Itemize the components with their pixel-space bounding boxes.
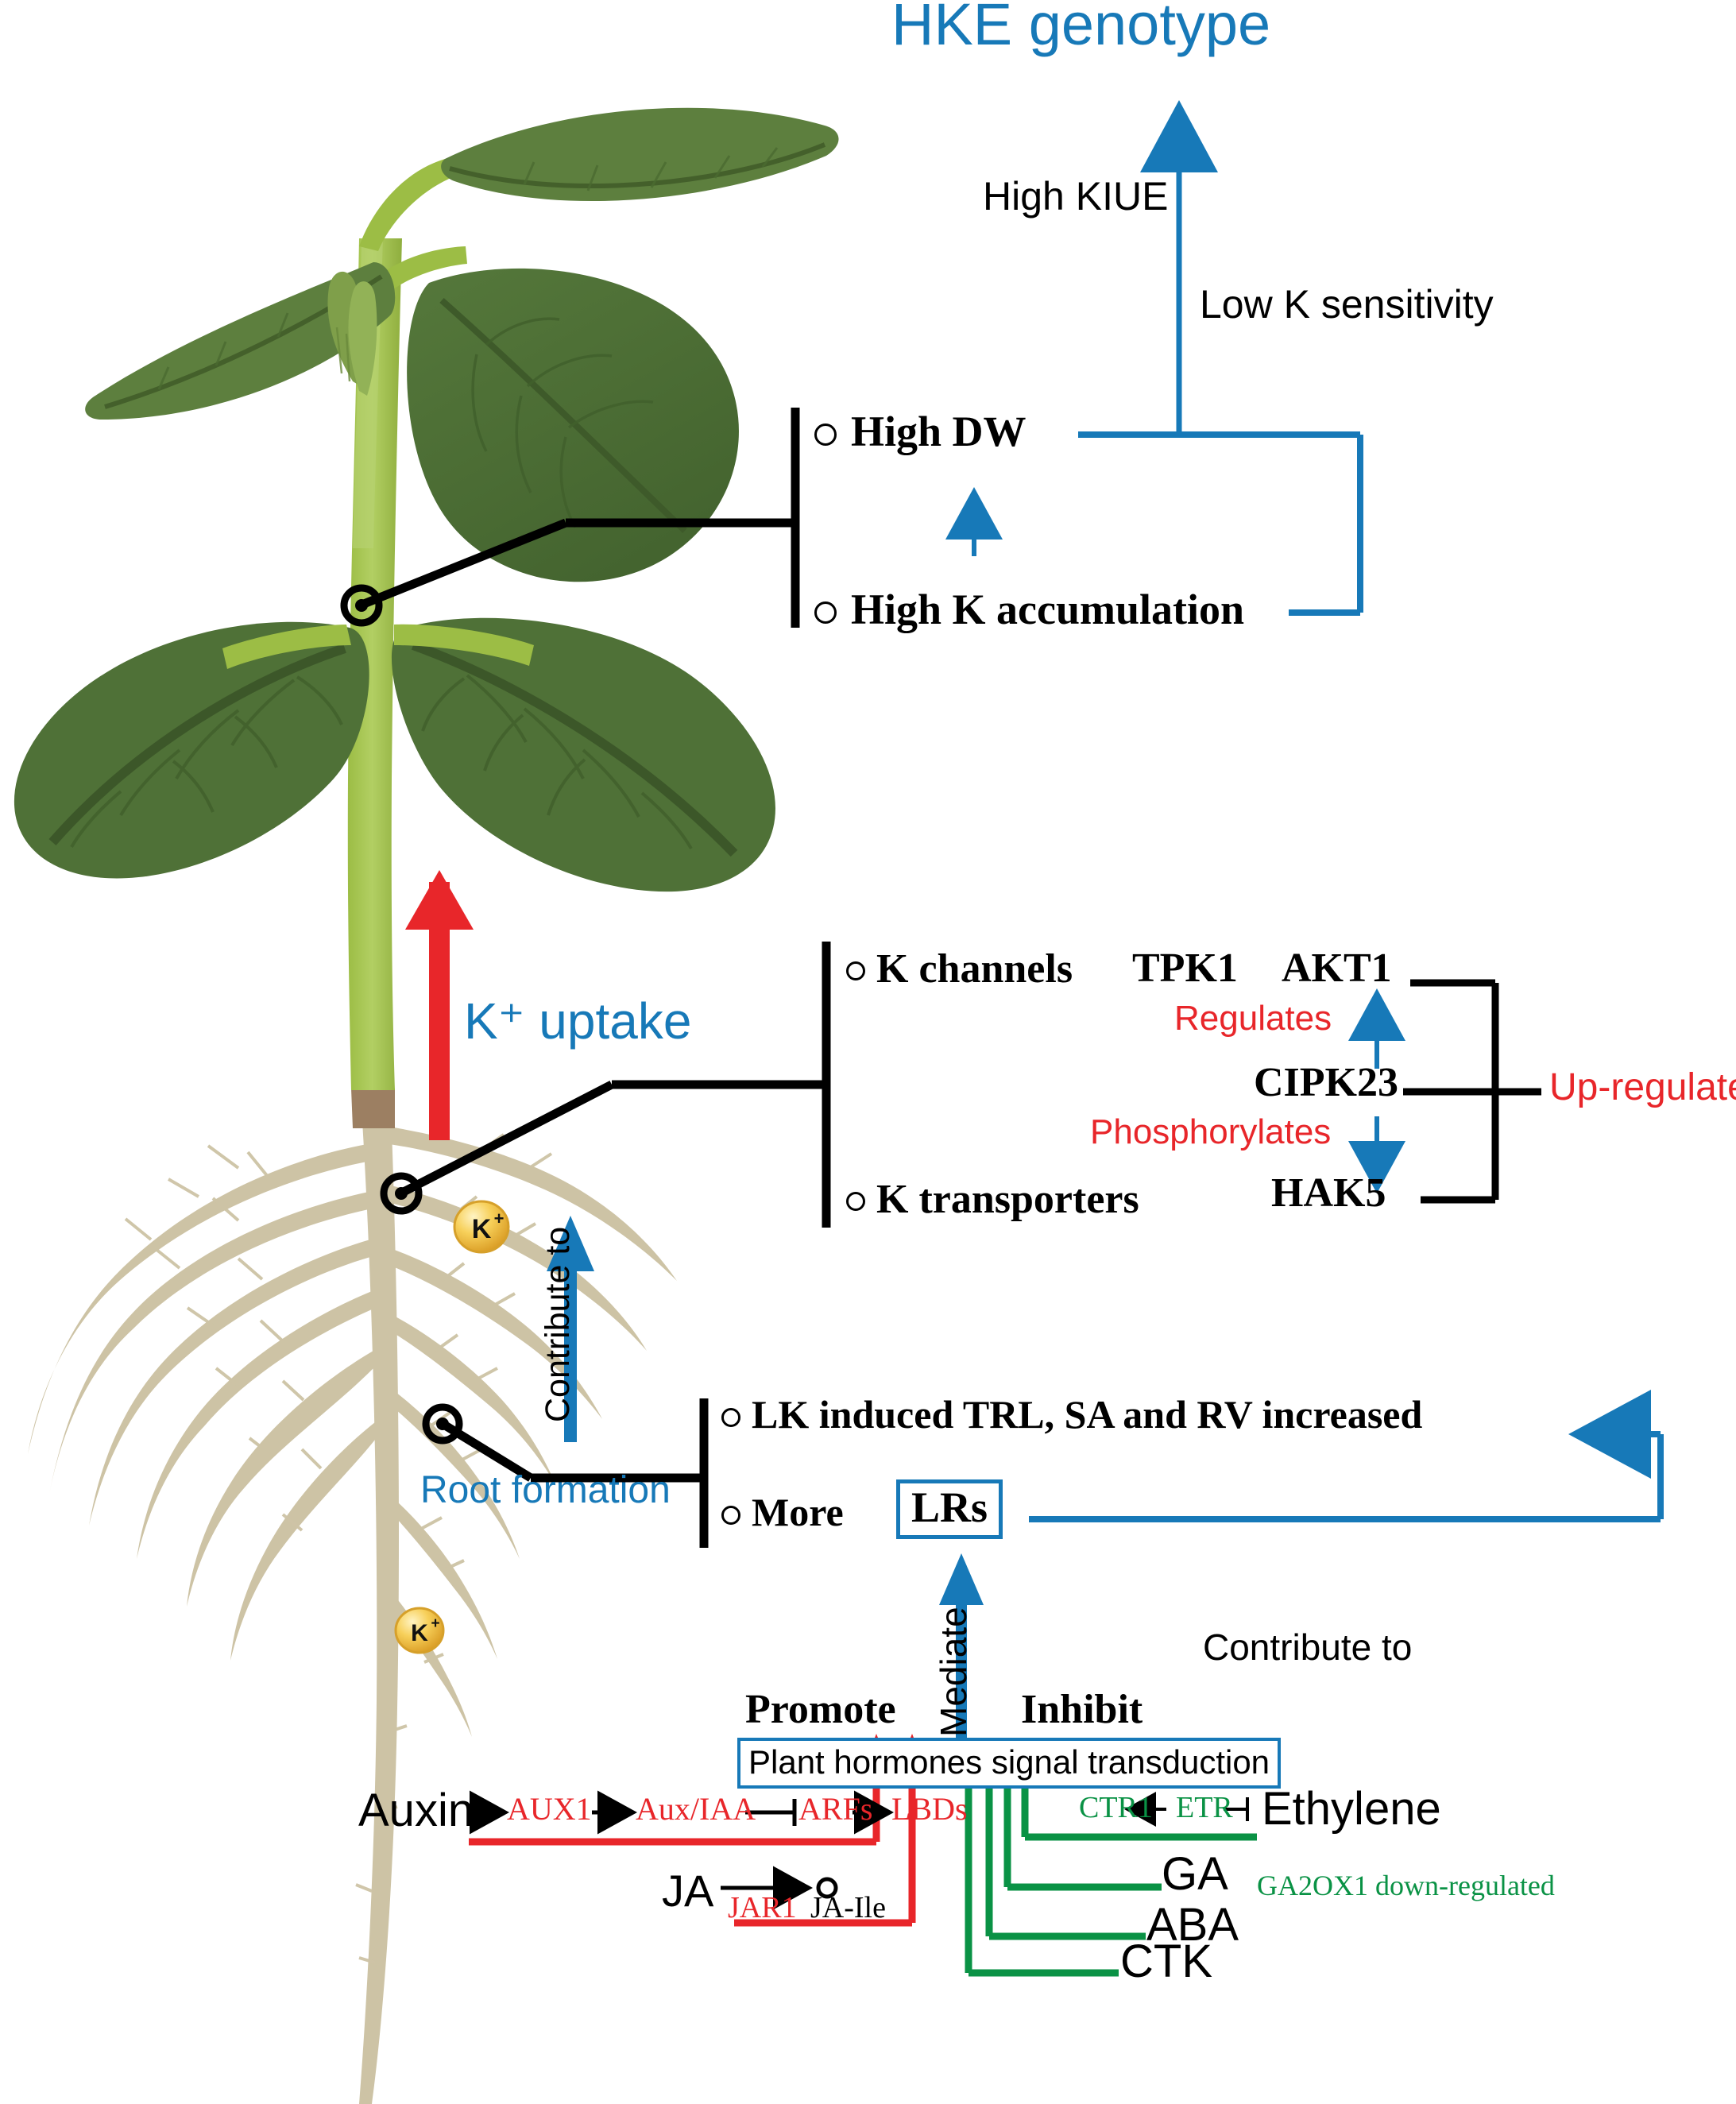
contribute-to-vertical-label: Contribute to [541,1227,575,1422]
inhibit-label: Inhibit [1021,1689,1143,1731]
hypocotyl [351,1089,395,1128]
svg-text:+: + [431,1615,439,1632]
hormone-auxin: Auxin [358,1788,474,1834]
hormone-ja: JA [662,1869,713,1913]
leaf-young [327,272,377,396]
svg-text:+: + [494,1209,505,1228]
bullet-icon [721,1506,740,1525]
auxin-chain-arfs: ARFs [798,1793,872,1825]
shoot-trait-label: High DW [851,408,1027,455]
relation-regulates: Regulates [1174,1001,1332,1036]
gene-bracket [1403,983,1541,1200]
shoot-trait-high-dw: High DW [814,410,1027,453]
k-channels-row: K channels [846,948,1073,990]
auxin-chain-aux1: AUX1 [507,1793,592,1825]
petiole-upper [359,159,454,251]
gene-tpk1: TPK1 [1132,948,1238,989]
relation-up-regulated: Up-regulated [1549,1069,1736,1107]
bullet-icon [846,961,865,980]
svg-text:K: K [411,1620,428,1646]
pathway-box-label: Plant hormones signal transduction [737,1738,1281,1789]
pathway-box[interactable]: Plant hormones signal transduction [737,1738,1281,1789]
auxin-chain-lbds: LBDs [891,1793,968,1825]
hormone-ethylene: Ethylene [1262,1786,1441,1832]
bullet-icon [814,601,837,624]
potassium-ion-lower: K + [396,1608,443,1653]
ethylene-ctr1: CTR1 [1079,1793,1153,1823]
gene-cipk23: CIPK23 [1254,1062,1398,1104]
potassium-ion-upper: K + [454,1201,508,1252]
root-system [28,1108,677,2104]
k-channels-label: K channels [876,946,1073,992]
contribute-to-right-label: Contribute to [1203,1629,1412,1665]
root-trait-more-lrs: More [721,1492,844,1532]
auxin-chain-auxiaa: Aux/IAA [636,1793,756,1825]
leaf-top-right [441,108,838,201]
k-transporters-row: K transporters [846,1178,1139,1220]
bullet-icon [846,1192,865,1211]
hormone-ga: GA [1162,1851,1228,1897]
more-label: More [752,1490,844,1534]
lrs-box-label: LRs [896,1479,1003,1539]
ja-enzyme-jar1: JAR1 [728,1893,797,1923]
shoot-trait-high-k: High K accumulation [814,588,1244,631]
root-trait-label: LK induced TRL, SA and RV increased [752,1392,1422,1437]
bullet-icon [814,424,837,446]
leaf-mid-right [392,618,775,891]
gene-hak5: HAK5 [1271,1173,1386,1214]
gene-akt1: AKT1 [1282,948,1392,989]
svg-text:K: K [472,1214,492,1244]
relation-phosphorylates: Phosphorylates [1090,1115,1331,1150]
diagram-canvas: K + K + [0,0,1736,2104]
high-kiue-label: High KIUE [983,176,1168,216]
leaf-mid-left [14,622,369,879]
ethylene-etr: ETR [1176,1793,1233,1823]
shoot-trait-label: High K accumulation [851,586,1244,633]
mediate-label: Mediate [935,1607,972,1737]
lrs-contribute-loop [1029,1434,1661,1519]
k-transporters-label: K transporters [876,1177,1139,1222]
ga-note: GA2OX1 down-regulated [1257,1871,1555,1900]
low-k-sensitivity-label: Low K sensitivity [1200,284,1494,324]
leaf-top-oval [407,269,739,582]
root-formation-label: Root formation [420,1472,671,1510]
k-uptake-label: K⁺ uptake [464,996,691,1046]
ja-product-jaile: JA-Ile [810,1893,886,1923]
promote-label: Promote [745,1689,896,1731]
page-title: HKE genotype [891,0,1270,54]
root-trait-lk-induced: LK induced TRL, SA and RV increased [721,1394,1422,1434]
hormone-ctk: CTK [1120,1939,1212,1985]
lrs-box[interactable]: LRs [896,1479,1003,1539]
bullet-icon [721,1408,740,1427]
